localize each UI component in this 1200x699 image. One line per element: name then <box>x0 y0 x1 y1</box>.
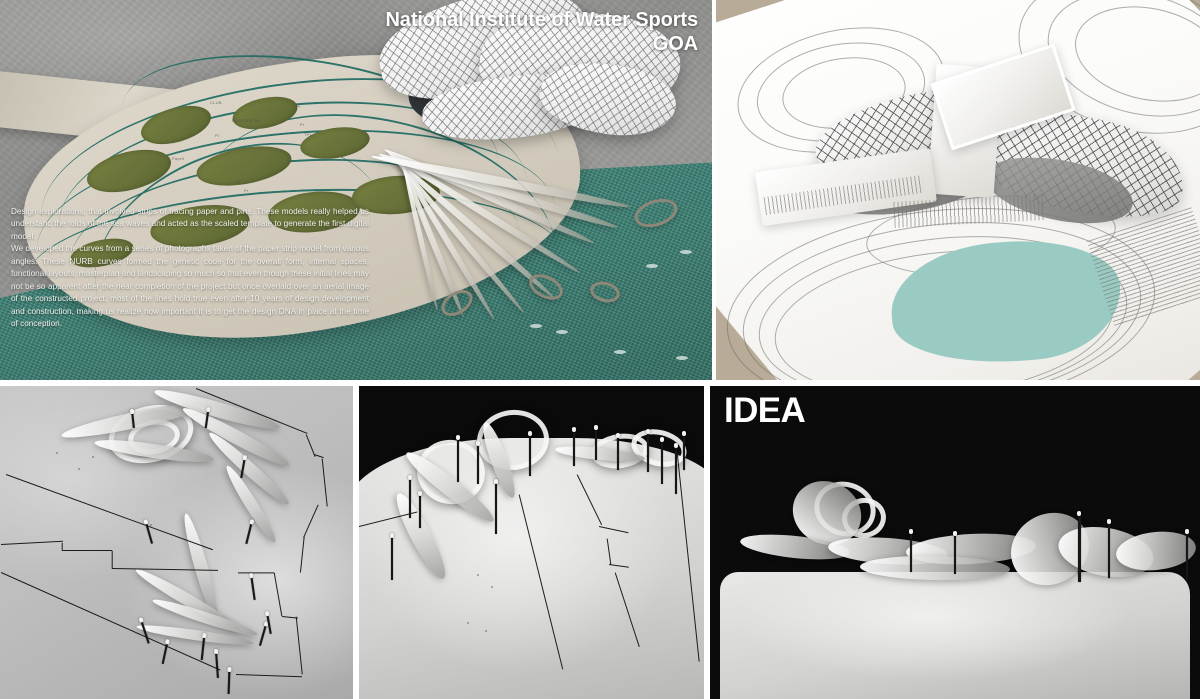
model-pin <box>683 434 685 470</box>
board-title-line-2: GOA <box>385 32 698 56</box>
model-pin <box>1186 532 1188 580</box>
description-text-block: Design explorations, that involved strip… <box>11 206 369 331</box>
surface-speck <box>56 452 58 454</box>
model-pin <box>1078 514 1081 582</box>
panel-model-angled <box>359 386 704 699</box>
surface-speck <box>477 574 479 576</box>
boat-marker <box>556 330 568 334</box>
site-boundary-line <box>238 572 274 573</box>
surface-speck <box>150 524 152 526</box>
site-boundary-line <box>62 550 112 551</box>
model-pin <box>457 438 459 482</box>
model-pin <box>419 494 421 528</box>
panel-model-plan <box>0 386 353 699</box>
site-label: Pr <box>296 104 301 109</box>
site-label: Pi <box>215 133 219 138</box>
site-label: TPL <box>304 132 312 137</box>
model-base-table <box>720 572 1190 699</box>
model-pin <box>573 430 575 466</box>
site-label: CLUB <box>210 100 222 105</box>
surface-speck <box>485 630 487 632</box>
board-title-line-1: National Institute of Water Sports <box>385 9 698 31</box>
surface-speck <box>78 468 80 470</box>
idea-label: IDEA <box>724 393 805 428</box>
description-paragraph-2: We developed the curves from a series of… <box>11 243 369 330</box>
board-title: National Institute of Water Sports GOA <box>385 8 698 57</box>
model-pin <box>477 444 479 484</box>
site-label: Pr <box>244 188 249 193</box>
description-paragraph-1: Design explorations, that involved strip… <box>11 206 369 243</box>
surface-speck <box>491 586 493 588</box>
surface-speck <box>92 456 94 458</box>
presentation-board: Pi Paprti Pi CLUB Pr RESIDENTIAL Pr TPL … <box>0 0 1200 699</box>
boat-marker <box>530 324 542 328</box>
panel-model-render <box>716 0 1200 380</box>
surface-speck <box>467 622 469 624</box>
panel-model-elevation: IDEA <box>710 386 1200 699</box>
model-pin <box>495 482 497 534</box>
boat-marker <box>614 350 626 354</box>
model-pin <box>595 428 597 460</box>
boat-marker <box>646 264 658 268</box>
site-label: Paprti <box>172 156 184 161</box>
boat-marker <box>680 250 692 254</box>
boat-marker <box>676 356 688 360</box>
model-pin <box>1108 522 1110 578</box>
model-pin <box>647 432 649 472</box>
panel-aerial-masterplan: Pi Paprti Pi CLUB Pr RESIDENTIAL Pr TPL … <box>0 0 712 380</box>
model-pin <box>391 536 393 580</box>
model-pin <box>617 436 619 470</box>
site-label: Pi <box>236 180 240 185</box>
model-pin <box>910 532 912 572</box>
site-label: Pr <box>300 122 305 127</box>
model-pin <box>954 534 956 574</box>
model-pin <box>529 434 531 476</box>
site-label: RESIDENTIAL <box>232 118 262 123</box>
model-pin <box>661 440 663 484</box>
site-boundary-line <box>111 551 112 569</box>
